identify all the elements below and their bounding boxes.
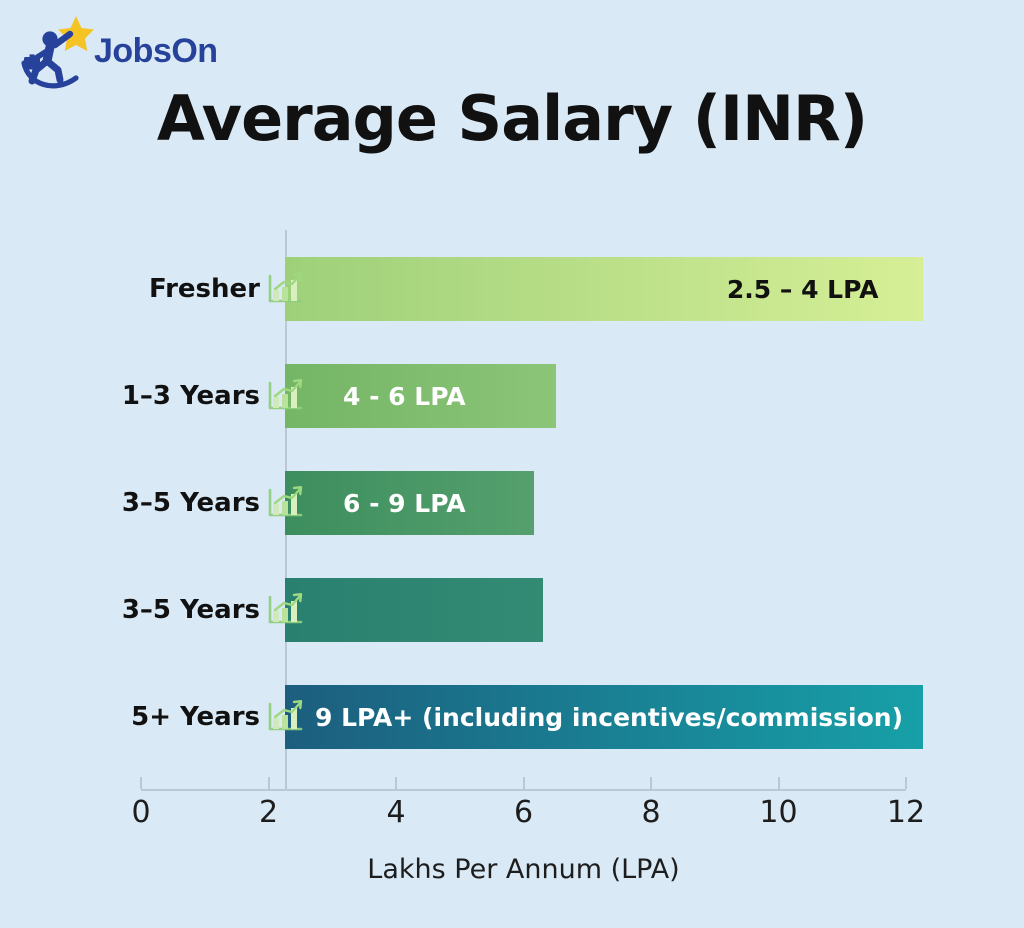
x-axis-tick-mark — [523, 777, 525, 789]
bar-value-label: 9 LPA+ (including incentives/commission) — [315, 703, 903, 732]
bar-row: 3–5 Years — [0, 562, 1024, 658]
bar-row: 1–3 Years4 - 6 LPA — [0, 348, 1024, 444]
x-axis-line — [141, 789, 906, 791]
x-axis-tick-mark — [778, 777, 780, 789]
growth-chart-icon — [263, 267, 307, 311]
bar-category-label: 3–5 Years — [122, 562, 260, 658]
x-axis-tick-mark — [905, 777, 907, 789]
x-axis-tick-mark — [395, 777, 397, 789]
bar-value-label: 6 - 9 LPA — [343, 489, 466, 518]
x-axis-tick-label: 8 — [611, 795, 691, 830]
x-axis-tick-label: 12 — [866, 795, 946, 830]
x-axis-title: Lakhs Per Annum (LPA) — [141, 854, 906, 885]
growth-chart-icon — [263, 695, 307, 739]
x-axis-tick-label: 0 — [101, 795, 181, 830]
bar-rect[interactable]: 6 - 9 LPA — [285, 471, 534, 535]
bar-rect[interactable]: 9 LPA+ (including incentives/commission) — [285, 685, 923, 749]
bar-row: Fresher2.5 – 4 LPA — [0, 241, 1024, 337]
x-axis-tick-label: 4 — [356, 795, 436, 830]
x-axis-tick-label: 2 — [229, 795, 309, 830]
bar-rect[interactable]: 4 - 6 LPA — [285, 364, 556, 428]
bar-rect[interactable] — [285, 578, 543, 642]
growth-chart-icon — [263, 481, 307, 525]
growth-chart-icon — [263, 588, 307, 632]
bar-category-label: 5+ Years — [131, 669, 260, 765]
x-axis-tick-label: 6 — [484, 795, 564, 830]
bar-value-label: 2.5 – 4 LPA — [727, 275, 879, 304]
x-axis-tick-mark — [268, 777, 270, 789]
bar-category-label: 3–5 Years — [122, 455, 260, 551]
x-axis-tick-mark — [140, 777, 142, 789]
x-axis-tick-mark — [650, 777, 652, 789]
bar-category-label: Fresher — [149, 241, 260, 337]
bar-value-label: 4 - 6 LPA — [343, 382, 466, 411]
bar-rect[interactable]: 2.5 – 4 LPA — [285, 257, 923, 321]
bar-row: 5+ Years9 LPA+ (including incentives/com… — [0, 669, 1024, 765]
x-axis-tick-label: 10 — [739, 795, 819, 830]
growth-chart-icon — [263, 374, 307, 418]
bar-row: 3–5 Years6 - 9 LPA — [0, 455, 1024, 551]
chart-plot-area: Fresher2.5 – 4 LPA1–3 Years4 - 6 LPA3–5 … — [0, 0, 1024, 928]
bar-category-label: 1–3 Years — [122, 348, 260, 444]
